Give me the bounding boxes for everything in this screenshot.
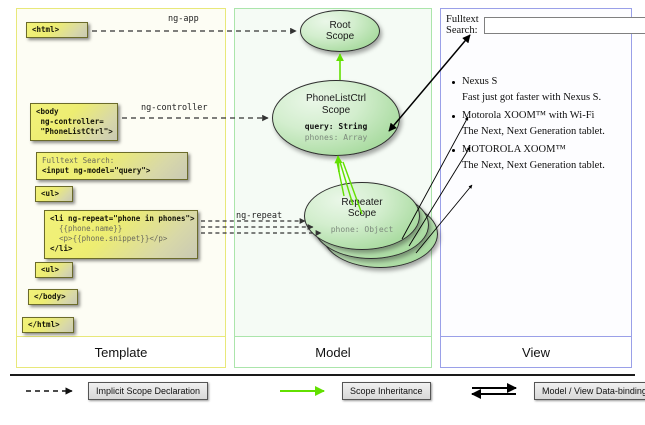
diagram-canvas: Template Model View <html> <body ng-cont… xyxy=(0,0,645,425)
phone-snippet: The Next, Next Generation tablet. xyxy=(446,126,628,137)
list-item: Motorola XOOM™ with Wi-Fi The Next, Next… xyxy=(446,110,628,137)
code-block-html-close: </html> xyxy=(22,317,74,333)
dashed-arrow-icon xyxy=(24,383,80,399)
legend-item-scope-inheritance: Scope Inheritance xyxy=(278,382,431,400)
legend-item-model-view-data-binding: Model / View Data-binding xyxy=(470,382,645,400)
code-block-ul-close: <ul> xyxy=(35,262,73,278)
legend-label: Scope Inheritance xyxy=(342,382,431,400)
scope-repeater-var-phone: phone: Object xyxy=(331,225,394,235)
scope-ctrl-var-phones: phones: Array xyxy=(305,133,368,143)
edge-label-ng-repeat: ng-repeat xyxy=(236,211,282,221)
phone-snippet: The Next, Next Generation tablet. xyxy=(446,160,628,171)
legend-divider xyxy=(10,374,635,376)
column-label-template: Template xyxy=(17,336,225,367)
view-phone-list: Nexus S Fast just got faster with Nexus … xyxy=(446,76,628,171)
column-label-view: View xyxy=(441,336,631,367)
legend-label: Implicit Scope Declaration xyxy=(88,382,208,400)
double-arrow-icon xyxy=(470,383,526,399)
scope-repeater-line2: Scope xyxy=(348,208,376,220)
list-item: Nexus S Fast just got faster with Nexus … xyxy=(446,76,628,103)
view-search-label: Fulltext Search: xyxy=(446,14,479,36)
scope-ctrl-line2: Scope xyxy=(322,105,350,117)
view-search-row: Fulltext Search: xyxy=(446,14,628,36)
phone-name: MOTOROLA XOOM™ xyxy=(446,144,628,155)
edge-label-ng-controller: ng-controller xyxy=(141,103,208,113)
phone-name: Motorola XOOM™ with Wi-Fi xyxy=(446,110,628,121)
scope-phonelistctrl: PhoneListCtrl Scope query: String phones… xyxy=(272,80,400,156)
scope-ctrl-vars: query: String phones: Array xyxy=(305,122,368,143)
phone-name: Nexus S xyxy=(446,76,628,87)
scope-root-line1: Root xyxy=(329,20,350,32)
scope-repeater: Repeater Scope phone: Object xyxy=(304,182,420,250)
code-block-body-open: <body ng-controller= "PhoneListCtrl"> xyxy=(30,103,118,141)
scope-repeater-line1: Repeater xyxy=(341,197,382,209)
green-arrow-icon xyxy=(278,383,334,399)
code-block-body-close: </body> xyxy=(28,289,78,305)
view-rendered-output: Fulltext Search: Nexus S Fast just got f… xyxy=(446,14,628,330)
code-block-html-open: <html> xyxy=(26,22,88,38)
scope-ctrl-var-query: query: String xyxy=(305,122,368,132)
code-block-li-ng-repeat: <li ng-repeat="phone in phones"> {{phone… xyxy=(44,210,198,259)
search-input[interactable] xyxy=(484,17,645,34)
column-label-model: Model xyxy=(235,336,431,367)
legend-label: Model / View Data-binding xyxy=(534,382,645,400)
code-block-ul-open: <ul> xyxy=(35,186,73,202)
scope-ctrl-line1: PhoneListCtrl xyxy=(306,93,366,105)
scope-root: Root Scope xyxy=(300,10,380,52)
list-item: MOTOROLA XOOM™ The Next, Next Generation… xyxy=(446,144,628,171)
code-block-fulltext-search: Fulltext Search: <input ng-model="query"… xyxy=(36,152,188,180)
phone-snippet: Fast just got faster with Nexus S. xyxy=(446,92,628,103)
scope-root-line2: Scope xyxy=(326,31,354,43)
legend-item-implicit-scope-declaration: Implicit Scope Declaration xyxy=(24,382,208,400)
legend: Implicit Scope Declaration Scope Inherit… xyxy=(10,378,635,416)
edge-label-ng-app: ng-app xyxy=(168,14,199,24)
